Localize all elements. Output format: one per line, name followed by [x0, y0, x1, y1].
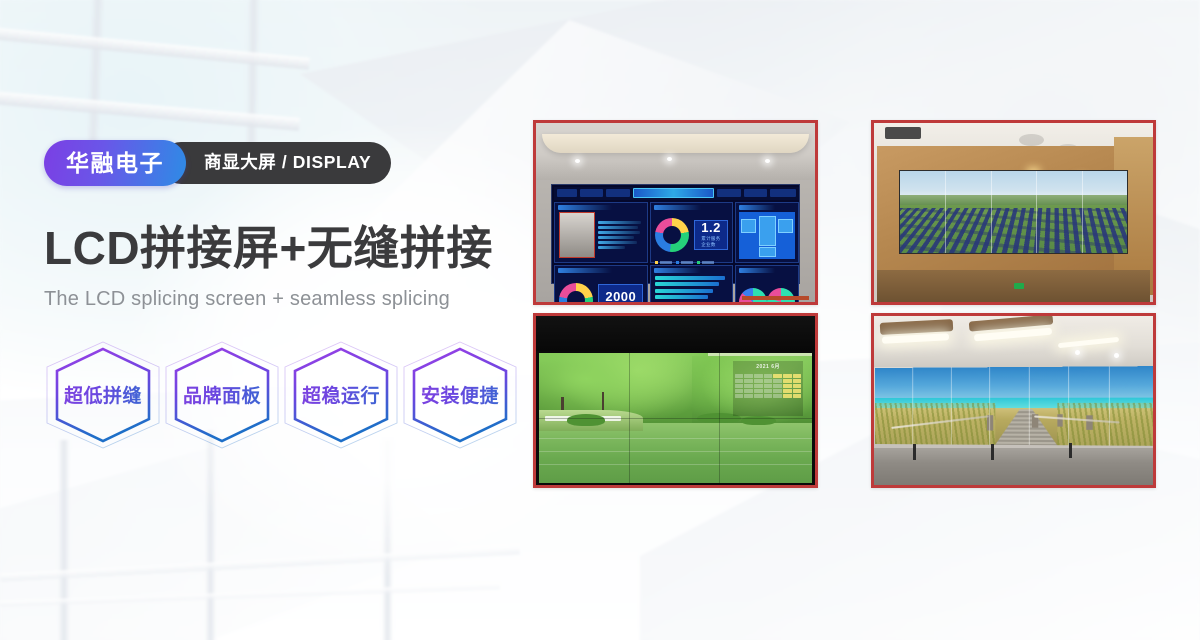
banner-text-column: 华融电子 商显大屏 / DISPLAY LCD拼接屏+无缝拼接 The LCD …	[44, 140, 524, 449]
feature-hexagon: 超低拼缝	[44, 341, 162, 449]
photo-pond-willow-video-wall[interactable]: 2021 6月	[533, 313, 818, 488]
product-banner: 华融电子 商显大屏 / DISPLAY LCD拼接屏+无缝拼接 The LCD …	[0, 0, 1200, 640]
boardwalk-screen	[875, 367, 1153, 447]
category-badge-label: 商显大屏 / DISPLAY	[204, 154, 371, 172]
badge-row: 华融电子 商显大屏 / DISPLAY	[44, 140, 524, 186]
feature-hexagon-label: 安装便捷	[401, 341, 519, 449]
page-title: LCD拼接屏+无缝拼接	[44, 224, 524, 274]
calendar-overlay: 2021 6月	[733, 361, 804, 416]
solar-farm-screen	[899, 170, 1128, 254]
dashboard-screen: 1.2 累计服务企业数	[551, 184, 799, 284]
dashboard-kpi-secondary: 2000	[605, 290, 636, 302]
feature-hexagon: 超稳运行	[282, 341, 400, 449]
dashboard-kpi-primary: 1.2	[701, 221, 721, 234]
feature-hexagon-label: 超稳运行	[282, 341, 400, 449]
feature-hexagon-row: 超低拼缝 品牌面板 超稳运行	[44, 341, 524, 449]
page-subtitle: The LCD splicing screen + seamless splic…	[44, 288, 524, 311]
window-mullion	[58, 440, 70, 640]
photo-dashboard-video-wall[interactable]: 1.2 累计服务企业数	[533, 120, 818, 305]
photo-boardwalk-video-wall[interactable]	[871, 313, 1156, 488]
brand-badge-label: 华融电子	[66, 152, 164, 175]
feature-hexagon-label: 超低拼缝	[44, 341, 162, 449]
calendar-title: 2021 6月	[756, 363, 780, 370]
dashboard-kpi-primary-caption: 累计服务企业数	[701, 236, 721, 248]
feature-hexagon: 安装便捷	[401, 341, 519, 449]
feature-hexagon: 品牌面板	[163, 341, 281, 449]
category-badge: 商显大屏 / DISPLAY	[160, 142, 391, 184]
brand-badge: 华融电子	[44, 140, 186, 186]
pond-landscape-screen: 2021 6月	[539, 353, 811, 483]
feature-hexagon-label: 品牌面板	[163, 341, 281, 449]
photo-solar-farm-video-wall[interactable]	[871, 120, 1156, 305]
